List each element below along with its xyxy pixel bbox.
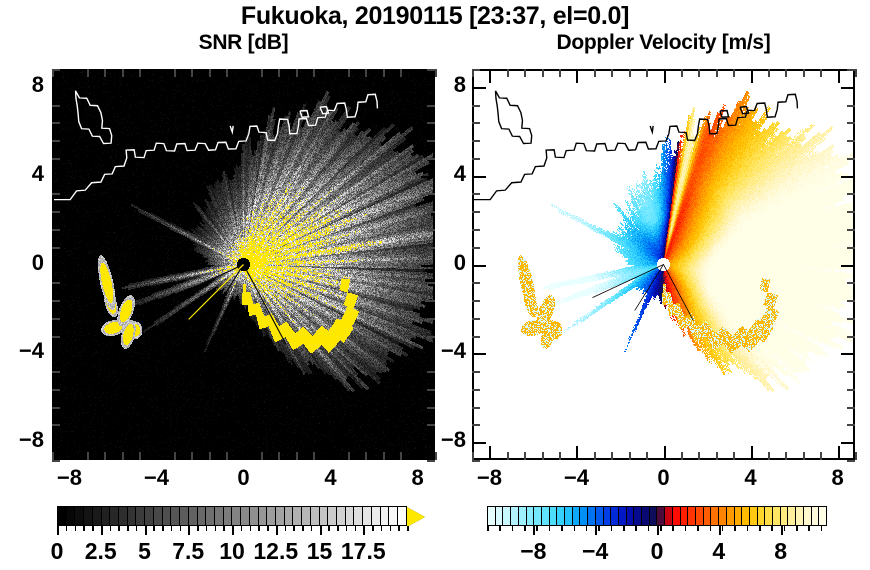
colorbar-minor-tick xyxy=(672,526,674,531)
y-minor-tick xyxy=(847,122,855,124)
x-major-tick xyxy=(664,69,666,83)
colorbar-minor-tick xyxy=(328,526,330,531)
y-major-tick xyxy=(472,353,486,355)
colorbar-minor-tick xyxy=(136,526,138,531)
x-major-tick xyxy=(664,446,666,460)
colorbar-tick-label: 17.5 xyxy=(323,538,403,565)
colorbar-minor-tick xyxy=(771,526,773,531)
colorbar-cell xyxy=(527,507,535,525)
colorbar-cell xyxy=(550,507,558,525)
y-minor-tick xyxy=(52,105,60,107)
colorbar-minor-tick xyxy=(697,526,699,531)
x-tick-label: 0 xyxy=(214,465,274,491)
colorbar-tick-label: 8 xyxy=(741,538,821,565)
y-minor-tick xyxy=(847,318,855,320)
y-minor-tick xyxy=(847,300,855,302)
colorbar-minor-tick xyxy=(66,526,68,531)
colorbar-cell xyxy=(224,507,233,525)
x-minor-tick xyxy=(400,69,402,77)
colorbar-cell xyxy=(711,507,719,525)
colorbar-cell xyxy=(232,507,241,525)
colorbar-cell xyxy=(389,507,398,525)
colorbar-cell xyxy=(354,507,363,525)
x-minor-tick xyxy=(646,69,648,77)
y-minor-tick xyxy=(52,229,60,231)
figure-canvas: Fukuoka, 20190115 [23:37, el=0.0] SNR [d… xyxy=(0,0,870,570)
y-minor-tick xyxy=(427,69,435,71)
x-minor-tick xyxy=(542,452,544,460)
y-major-tick xyxy=(841,442,855,444)
colorbar-cell xyxy=(735,507,743,525)
y-minor-tick xyxy=(847,140,855,142)
y-minor-tick xyxy=(847,193,855,195)
x-minor-tick xyxy=(348,452,350,460)
colorbar-minor-tick xyxy=(561,526,563,531)
colorbar-cell xyxy=(363,507,372,525)
y-minor-tick xyxy=(472,122,480,124)
colorbar-cell xyxy=(58,507,67,525)
doppler-colorbar[interactable] xyxy=(487,506,827,528)
snr-radar-raster xyxy=(54,71,433,458)
x-major-tick xyxy=(69,69,71,83)
x-major-tick xyxy=(156,446,158,460)
colorbar-cell xyxy=(758,507,766,525)
y-minor-tick xyxy=(427,122,435,124)
doppler-colorbar-gradient xyxy=(487,506,827,526)
colorbar-major-tick xyxy=(57,526,59,535)
y-minor-tick xyxy=(52,371,60,373)
colorbar-minor-tick xyxy=(293,526,295,531)
y-minor-tick xyxy=(52,460,60,462)
colorbar-cell xyxy=(534,507,542,525)
colorbar-cell xyxy=(250,507,259,525)
colorbar-minor-tick xyxy=(722,526,724,531)
x-tick-label: 8 xyxy=(808,465,868,491)
colorbar-cell xyxy=(381,507,390,525)
y-minor-tick xyxy=(847,336,855,338)
y-minor-tick xyxy=(427,247,435,249)
colorbar-minor-tick xyxy=(118,526,120,531)
colorbar-minor-tick xyxy=(407,526,409,531)
x-major-tick xyxy=(576,446,578,460)
colorbar-cell xyxy=(189,507,198,525)
y-minor-tick xyxy=(472,282,480,284)
y-minor-tick xyxy=(847,424,855,426)
x-tick-label: −4 xyxy=(546,465,606,491)
colorbar-cell xyxy=(804,507,812,525)
colorbar-cell xyxy=(276,507,285,525)
x-major-tick xyxy=(751,69,753,83)
colorbar-minor-tick xyxy=(267,526,269,531)
x-major-tick xyxy=(331,446,333,460)
y-minor-tick xyxy=(52,193,60,195)
x-major-tick xyxy=(838,446,840,460)
y-minor-tick xyxy=(847,229,855,231)
colorbar-cell xyxy=(84,507,93,525)
colorbar-minor-tick xyxy=(337,526,339,531)
y-major-tick xyxy=(841,353,855,355)
y-minor-tick xyxy=(847,371,855,373)
x-minor-tick xyxy=(629,69,631,77)
colorbar-cell xyxy=(102,507,111,525)
colorbar-cell xyxy=(519,507,527,525)
y-minor-tick xyxy=(427,140,435,142)
x-major-tick xyxy=(156,69,158,83)
colorbar-cell xyxy=(642,507,650,525)
colorbar-minor-tick xyxy=(512,526,514,531)
colorbar-minor-tick xyxy=(372,526,374,531)
x-major-tick xyxy=(838,69,840,83)
doppler-plot-area[interactable] xyxy=(472,69,855,460)
x-minor-tick xyxy=(104,452,106,460)
colorbar-major-tick xyxy=(188,526,190,535)
x-minor-tick xyxy=(139,452,141,460)
x-minor-tick xyxy=(768,69,770,77)
x-minor-tick xyxy=(296,69,298,77)
colorbar-minor-tick xyxy=(524,526,526,531)
colorbar-minor-tick xyxy=(215,526,217,531)
x-tick-label: 0 xyxy=(634,465,694,491)
colorbar-minor-tick xyxy=(162,526,164,531)
x-minor-tick xyxy=(611,69,613,77)
y-minor-tick xyxy=(472,140,480,142)
colorbar-major-tick xyxy=(781,526,783,535)
colorbar-cell xyxy=(241,507,250,525)
x-minor-tick xyxy=(472,452,474,460)
y-major-tick xyxy=(52,442,66,444)
y-minor-tick xyxy=(472,389,480,391)
colorbar-cell xyxy=(542,507,550,525)
colorbar-minor-tick xyxy=(153,526,155,531)
y-minor-tick xyxy=(847,407,855,409)
colorbar-major-tick xyxy=(232,526,234,535)
colorbar-minor-tick xyxy=(355,526,357,531)
x-minor-tick xyxy=(768,452,770,460)
colorbar-cell xyxy=(285,507,294,525)
x-minor-tick xyxy=(681,69,683,77)
y-tick-label: 0 xyxy=(0,250,44,276)
x-minor-tick xyxy=(785,69,787,77)
colorbar-cell xyxy=(372,507,381,525)
colorbar-cell xyxy=(650,507,658,525)
y-minor-tick xyxy=(472,424,480,426)
x-major-tick xyxy=(69,446,71,460)
y-major-tick xyxy=(472,176,486,178)
y-minor-tick xyxy=(427,105,435,107)
colorbar-minor-tick xyxy=(747,526,749,531)
x-major-tick xyxy=(489,446,491,460)
x-minor-tick xyxy=(803,69,805,77)
colorbar-major-tick xyxy=(363,526,365,535)
colorbar-cell xyxy=(154,507,163,525)
x-minor-tick xyxy=(226,69,228,77)
colorbar-minor-tick xyxy=(346,526,348,531)
colorbar-cell xyxy=(128,507,137,525)
colorbar-cell xyxy=(337,507,346,525)
y-minor-tick xyxy=(427,336,435,338)
doppler-colorbar-over-arrow xyxy=(827,507,844,525)
colorbar-minor-tick xyxy=(75,526,77,531)
y-tick-label: 8 xyxy=(422,72,466,98)
x-minor-tick xyxy=(261,69,263,77)
y-minor-tick xyxy=(427,193,435,195)
y-minor-tick xyxy=(427,371,435,373)
snr-colorbar-gradient xyxy=(57,506,407,526)
x-minor-tick xyxy=(611,452,613,460)
x-minor-tick xyxy=(785,452,787,460)
y-minor-tick xyxy=(847,69,855,71)
colorbar-minor-tick xyxy=(171,526,173,531)
colorbar-cell xyxy=(619,507,627,525)
x-minor-tick xyxy=(261,452,263,460)
colorbar-minor-tick xyxy=(302,526,304,531)
colorbar-minor-tick xyxy=(759,526,761,531)
colorbar-minor-tick xyxy=(250,526,252,531)
y-minor-tick xyxy=(472,211,480,213)
y-major-tick xyxy=(841,87,855,89)
x-minor-tick xyxy=(122,69,124,77)
y-minor-tick xyxy=(52,211,60,213)
y-minor-tick xyxy=(427,211,435,213)
y-minor-tick xyxy=(52,247,60,249)
y-minor-tick xyxy=(472,371,480,373)
colorbar-cell xyxy=(511,507,519,525)
colorbar-cell xyxy=(206,507,215,525)
colorbar-cell xyxy=(765,507,773,525)
colorbar-cell xyxy=(696,507,704,525)
x-tick-label: 4 xyxy=(301,465,361,491)
x-minor-tick xyxy=(733,452,735,460)
snr-colorbar-ticks xyxy=(57,526,407,535)
x-minor-tick xyxy=(855,69,857,77)
colorbar-cell xyxy=(163,507,172,525)
doppler-colorbar-ticks xyxy=(487,526,827,535)
y-minor-tick xyxy=(472,247,480,249)
y-minor-tick xyxy=(847,211,855,213)
x-minor-tick xyxy=(820,452,822,460)
colorbar-cell xyxy=(773,507,781,525)
colorbar-minor-tick xyxy=(796,526,798,531)
colorbar-cell xyxy=(819,507,826,525)
x-minor-tick xyxy=(383,69,385,77)
x-tick-label: −4 xyxy=(126,465,186,491)
colorbar-cell xyxy=(657,507,665,525)
colorbar-cell xyxy=(704,507,712,525)
x-minor-tick xyxy=(542,69,544,77)
doppler-radar-raster xyxy=(474,71,853,458)
colorbar-cell xyxy=(788,507,796,525)
colorbar-minor-tick xyxy=(710,526,712,531)
x-minor-tick xyxy=(348,69,350,77)
y-minor-tick xyxy=(472,158,480,160)
colorbar-major-tick xyxy=(276,526,278,535)
doppler-panel-title: Doppler Velocity [m/s] xyxy=(472,31,855,55)
colorbar-minor-tick xyxy=(549,526,551,531)
colorbar-major-tick xyxy=(719,526,721,535)
x-minor-tick xyxy=(278,69,280,77)
y-major-tick xyxy=(472,442,486,444)
x-minor-tick xyxy=(209,452,211,460)
colorbar-cell xyxy=(742,507,750,525)
x-minor-tick xyxy=(313,452,315,460)
y-minor-tick xyxy=(472,407,480,409)
colorbar-minor-tick xyxy=(734,526,736,531)
x-minor-tick xyxy=(733,69,735,77)
x-minor-tick xyxy=(698,452,700,460)
y-minor-tick xyxy=(52,158,60,160)
x-major-tick xyxy=(331,69,333,83)
y-minor-tick xyxy=(472,336,480,338)
x-minor-tick xyxy=(122,452,124,460)
colorbar-cell xyxy=(665,507,673,525)
x-minor-tick xyxy=(559,452,561,460)
colorbar-major-tick xyxy=(320,526,322,535)
x-minor-tick xyxy=(507,452,509,460)
x-minor-tick xyxy=(855,452,857,460)
y-minor-tick xyxy=(52,389,60,391)
x-tick-label: −8 xyxy=(39,465,99,491)
colorbar-cell xyxy=(488,507,496,525)
colorbar-cell xyxy=(293,507,302,525)
colorbar-cell xyxy=(398,507,406,525)
x-minor-tick xyxy=(174,69,176,77)
colorbar-minor-tick xyxy=(623,526,625,531)
x-minor-tick xyxy=(209,69,211,77)
x-minor-tick xyxy=(104,69,106,77)
y-minor-tick xyxy=(427,158,435,160)
colorbar-cell xyxy=(180,507,189,525)
y-minor-tick xyxy=(847,105,855,107)
colorbar-cell xyxy=(688,507,696,525)
colorbar-minor-tick xyxy=(536,526,538,531)
y-major-tick xyxy=(52,353,66,355)
x-minor-tick xyxy=(139,69,141,77)
x-major-tick xyxy=(751,446,753,460)
y-minor-tick xyxy=(472,105,480,107)
colorbar-minor-tick xyxy=(598,526,600,531)
y-tick-label: 0 xyxy=(422,250,466,276)
colorbar-cell xyxy=(611,507,619,525)
colorbar-minor-tick xyxy=(586,526,588,531)
colorbar-minor-tick xyxy=(784,526,786,531)
colorbar-cell xyxy=(320,507,329,525)
colorbar-minor-tick xyxy=(206,526,208,531)
x-minor-tick xyxy=(507,69,509,77)
colorbar-minor-tick xyxy=(258,526,260,531)
colorbar-minor-tick xyxy=(808,526,810,531)
colorbar-minor-tick xyxy=(197,526,199,531)
colorbar-cell xyxy=(302,507,311,525)
page-title: Fukuoka, 20190115 [23:37, el=0.0] xyxy=(0,2,870,31)
colorbar-cell xyxy=(267,507,276,525)
y-major-tick xyxy=(52,265,66,267)
colorbar-cell xyxy=(781,507,789,525)
colorbar-cell xyxy=(346,507,355,525)
y-minor-tick xyxy=(427,229,435,231)
y-minor-tick xyxy=(472,69,480,71)
y-major-tick xyxy=(472,87,486,89)
x-minor-tick xyxy=(820,69,822,77)
snr-raster-clip xyxy=(54,71,433,458)
y-tick-label: −8 xyxy=(0,427,44,453)
y-tick-label: −8 xyxy=(422,427,466,453)
colorbar-cell xyxy=(136,507,145,525)
x-minor-tick xyxy=(400,452,402,460)
snr-colorbar-over-arrow xyxy=(407,507,425,527)
colorbar-minor-tick xyxy=(390,526,392,531)
colorbar-cell xyxy=(565,507,573,525)
y-minor-tick xyxy=(847,158,855,160)
x-major-tick xyxy=(244,446,246,460)
colorbar-cell xyxy=(259,507,268,525)
x-minor-tick xyxy=(524,69,526,77)
y-minor-tick xyxy=(52,336,60,338)
y-minor-tick xyxy=(427,300,435,302)
colorbar-minor-tick xyxy=(223,526,225,531)
colorbar-cell xyxy=(796,507,804,525)
colorbar-cell xyxy=(727,507,735,525)
colorbar-major-tick xyxy=(533,526,535,535)
y-minor-tick xyxy=(472,229,480,231)
colorbar-cell xyxy=(604,507,612,525)
y-minor-tick xyxy=(847,460,855,462)
y-major-tick xyxy=(841,265,855,267)
x-minor-tick xyxy=(803,452,805,460)
snr-colorbar[interactable] xyxy=(57,506,407,528)
colorbar-minor-tick xyxy=(635,526,637,531)
x-major-tick xyxy=(418,446,420,460)
colorbar-cell xyxy=(681,507,689,525)
colorbar-cell xyxy=(328,507,337,525)
x-minor-tick xyxy=(174,452,176,460)
x-minor-tick xyxy=(87,69,89,77)
colorbar-minor-tick xyxy=(685,526,687,531)
snr-plot-area[interactable] xyxy=(52,69,435,460)
colorbar-minor-tick xyxy=(285,526,287,531)
colorbar-cell xyxy=(119,507,128,525)
x-minor-tick xyxy=(646,452,648,460)
colorbar-major-tick xyxy=(595,526,597,535)
y-minor-tick xyxy=(472,193,480,195)
x-minor-tick xyxy=(383,452,385,460)
colorbar-cell xyxy=(110,507,119,525)
colorbar-major-tick xyxy=(657,526,659,535)
doppler-raster-clip xyxy=(474,71,853,458)
x-minor-tick xyxy=(191,69,193,77)
colorbar-cell xyxy=(503,507,511,525)
colorbar-cell xyxy=(496,507,504,525)
y-minor-tick xyxy=(472,318,480,320)
y-minor-tick xyxy=(847,247,855,249)
colorbar-minor-tick xyxy=(92,526,94,531)
y-minor-tick xyxy=(52,69,60,71)
y-minor-tick xyxy=(427,318,435,320)
y-minor-tick xyxy=(427,282,435,284)
colorbar-cell xyxy=(580,507,588,525)
y-tick-label: −4 xyxy=(0,338,44,364)
x-minor-tick xyxy=(226,452,228,460)
colorbar-cell xyxy=(198,507,207,525)
y-minor-tick xyxy=(427,407,435,409)
x-minor-tick xyxy=(594,69,596,77)
colorbar-cell xyxy=(719,507,727,525)
colorbar-major-tick xyxy=(145,526,147,535)
x-minor-tick xyxy=(365,452,367,460)
x-minor-tick xyxy=(681,452,683,460)
colorbar-cell xyxy=(634,507,642,525)
x-minor-tick xyxy=(716,69,718,77)
colorbar-cell xyxy=(215,507,224,525)
